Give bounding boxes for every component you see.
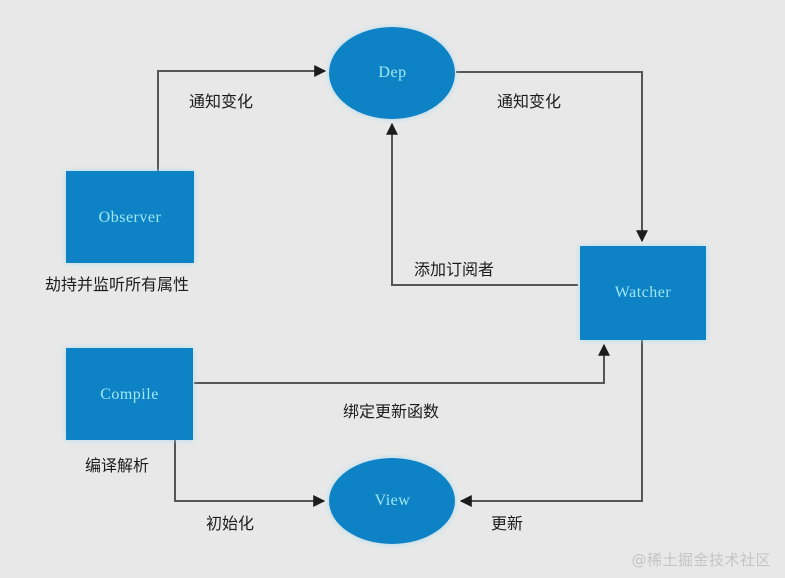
diagram-canvas: Dep Observer Watcher Compile View 通知变化 通…: [0, 0, 785, 578]
watermark: @稀土掘金技术社区: [631, 549, 771, 570]
edge-label-watcher-to-view: 更新: [491, 510, 523, 534]
edge-compile-to-watcher: [194, 345, 604, 383]
caption-observer: 劫持并监听所有属性: [45, 271, 189, 295]
edge-observer-to-dep: [158, 71, 325, 171]
node-compile[interactable]: [66, 348, 193, 440]
node-watcher[interactable]: [580, 246, 706, 340]
edge-label-compile-to-watcher: 绑定更新函数: [343, 398, 439, 422]
edge-watcher-to-view: [461, 340, 642, 501]
node-observer[interactable]: [66, 171, 194, 263]
edge-label-observer-to-dep: 通知变化: [189, 88, 253, 112]
caption-compile: 编译解析: [85, 452, 149, 476]
node-dep[interactable]: [329, 27, 455, 119]
edge-label-dep-to-watcher: 通知变化: [497, 88, 561, 112]
edge-label-compile-to-view: 初始化: [206, 510, 254, 534]
node-view[interactable]: [329, 458, 455, 544]
edge-compile-to-view: [175, 440, 324, 501]
edge-label-watcher-to-dep: 添加订阅者: [414, 256, 494, 280]
